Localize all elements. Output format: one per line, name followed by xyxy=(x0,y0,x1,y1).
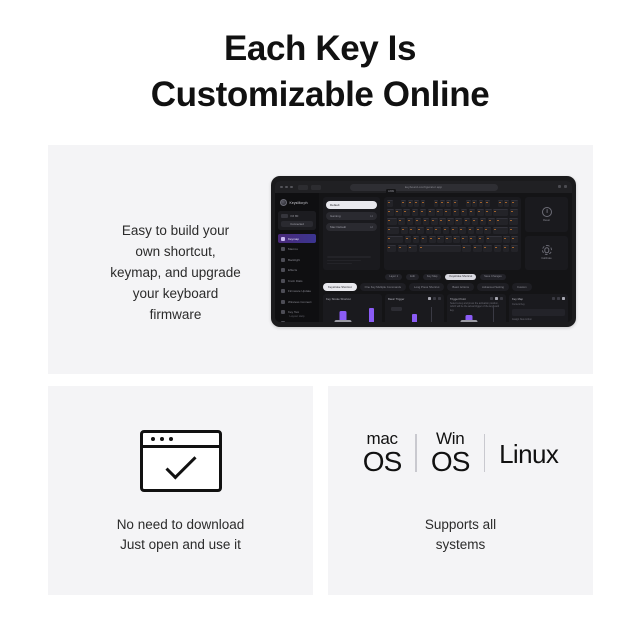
sidebar-item-wireless-connect[interactable]: Wireless Connect xyxy=(278,297,316,306)
sidebar-item-keymap[interactable]: Keymap xyxy=(278,234,316,243)
current-key-field[interactable] xyxy=(512,309,565,316)
layer-label: Default xyxy=(330,203,340,207)
panel-trigger-point: Trigger Point Select a key and press the… xyxy=(447,294,506,323)
sidebar-item-user-feedback[interactable]: User Feedback xyxy=(278,318,316,322)
os-linux: Linux xyxy=(499,440,558,467)
side-panel: Reset Calibrate xyxy=(525,197,568,270)
divider xyxy=(415,434,417,472)
panel-basic-trigger: Basic Trigger xyxy=(385,294,444,323)
trigger-axis xyxy=(431,307,432,323)
brand: KeysMorph xyxy=(280,199,316,206)
sidebar-item-label: User Feedback xyxy=(288,321,308,323)
panel-controls[interactable] xyxy=(428,297,441,300)
os-suffix: OS xyxy=(431,448,470,476)
device-name: K6 80 xyxy=(291,214,299,218)
sidebar-item-effects[interactable]: Effects xyxy=(278,266,316,275)
caption-line-2: Just open and use it xyxy=(48,535,313,555)
tab-basic-actions[interactable]: Basic Actions xyxy=(447,283,474,291)
switch-base xyxy=(461,320,478,323)
macros-icon xyxy=(281,247,285,251)
connected-device-box[interactable]: K6 80 Connected xyxy=(278,211,316,230)
app-screen: keyboard-configurator.app KeysMorph K6 8… xyxy=(275,181,572,322)
trigger-bar xyxy=(412,314,417,323)
feature-copy-line-2: own shortcut, xyxy=(88,242,263,263)
sidebar-item-label: Wireless Connect xyxy=(288,300,312,304)
feature-copy-line-5: firmware xyxy=(88,305,263,326)
keyboard-row-number xyxy=(387,209,518,216)
feature-card-all-systems: mac OS Win OS Linux Supports all systems xyxy=(328,386,593,595)
window-controls[interactable] xyxy=(280,186,293,189)
feature-copy-line-3: keymap, and upgrade xyxy=(88,263,263,284)
check-icon xyxy=(165,449,196,480)
feature-card-no-download: No need to download Just open and use it xyxy=(48,386,313,595)
sidebar-item-label: Keymap xyxy=(288,237,299,241)
caption-line-1: No need to download xyxy=(48,515,313,535)
layer-item-gaming[interactable]: Gaming L1 xyxy=(326,212,377,220)
os-suffix: Linux xyxy=(499,441,558,467)
browser-window-check-icon xyxy=(140,430,222,492)
os-support-row: mac OS Win OS Linux xyxy=(328,430,593,476)
feature-card-customize: Easy to build your own shortcut, keymap,… xyxy=(48,145,593,374)
keyboard-row-space xyxy=(387,245,518,252)
keyboard-row-function xyxy=(387,200,518,207)
promo-page: Each Key Is Customizable Online Easy to … xyxy=(0,0,640,640)
brand-name: KeysMorph xyxy=(290,201,308,205)
dot-icon xyxy=(169,437,173,441)
device-row: K6 80 xyxy=(281,214,313,218)
dot-icon xyxy=(151,437,155,441)
layer-meta: L2 xyxy=(370,226,373,229)
effects-icon xyxy=(281,268,285,272)
page-title: Each Key Is Customizable Online xyxy=(0,26,640,117)
divider xyxy=(484,434,486,472)
sidebar-item-firmware-update[interactable]: Firmware Update xyxy=(278,287,316,296)
sidebar-item-knob-dials[interactable]: Knob Dials xyxy=(278,276,316,285)
browser-tabs[interactable] xyxy=(298,185,321,190)
power-icon xyxy=(542,207,552,217)
browser-icon-titlebar xyxy=(143,433,219,448)
device-connect-button[interactable]: Connected xyxy=(281,221,313,227)
current-key-label: Current Key xyxy=(512,303,565,306)
card-caption: Supports all systems xyxy=(328,515,593,556)
caption-line-1: Supports all xyxy=(328,515,593,535)
sidebar-item-label: Knob Dials xyxy=(288,279,303,283)
address-bar-url: keyboard-configurator.app xyxy=(405,185,442,189)
keyboard-icon xyxy=(281,214,288,218)
panel-controls[interactable] xyxy=(552,297,565,300)
card-caption: No need to download Just open and use it xyxy=(48,515,313,556)
keyboard-row-shift xyxy=(387,236,518,243)
switch-stem xyxy=(340,311,347,320)
sidebar-item-label: Macros xyxy=(288,247,298,251)
trigger-chip[interactable] xyxy=(391,307,402,312)
mid-pill-edit[interactable]: Edit xyxy=(406,274,419,280)
gear-icon xyxy=(542,245,552,255)
os-windows: Win OS xyxy=(431,430,470,476)
assign-action-label: Assign New Action xyxy=(512,318,565,321)
panel-controls[interactable] xyxy=(490,297,503,300)
device-mockup: keyboard-configurator.app KeysMorph K6 8… xyxy=(271,176,576,327)
layer-label: Mac Default xyxy=(330,225,346,229)
layer-item-mac-default[interactable]: Mac Default L2 xyxy=(326,223,377,231)
backlight-icon xyxy=(281,258,285,262)
feature-copy: Easy to build your own shortcut, keymap,… xyxy=(88,221,263,326)
mid-toolbar: Layer 1 Edit Key Map Keystroke Shortcut … xyxy=(323,273,568,280)
layer-label: Gaming xyxy=(330,214,341,218)
layer-panel: Default Gaming L1 Mac Default L2 xyxy=(323,197,380,270)
switch-illustration xyxy=(461,315,477,323)
trigger-axis xyxy=(493,307,494,323)
panel-row: Key Stroke Shortcut Basic Trigger xyxy=(323,294,568,323)
reset-label: Reset xyxy=(543,219,550,222)
mid-pill-save-changes[interactable]: Save Changes xyxy=(480,274,506,280)
keyboard-row-home xyxy=(387,227,518,234)
feedback-icon xyxy=(281,321,285,323)
mid-pill-keystroke-shortcut[interactable]: Keystroke Shortcut xyxy=(445,274,476,280)
reset-control[interactable]: Reset xyxy=(525,197,568,232)
app-sidebar: KeysMorph K6 80 Connected Keymap xyxy=(275,193,319,322)
os-prefix: mac xyxy=(366,430,397,447)
feature-copy-line-1: Easy to build your xyxy=(88,221,263,242)
dot-icon xyxy=(160,437,164,441)
keyboard-layout-tag: ANSI xyxy=(386,189,396,194)
tab-keystroke-shortcut[interactable]: Keystroke Shortcut xyxy=(323,283,357,291)
app-main: Default Gaming L1 Mac Default L2 xyxy=(319,193,572,322)
keyboard-row-top xyxy=(387,218,518,225)
wireless-icon xyxy=(281,300,285,304)
travel-bar xyxy=(369,308,374,323)
headline-line-1: Each Key Is xyxy=(224,29,416,68)
keymap-icon xyxy=(281,237,285,241)
keyboard-panel[interactable]: ANSI xyxy=(384,197,521,270)
layer-meta: L1 xyxy=(370,215,373,218)
panel-title: Key Stroke Shortcut xyxy=(326,297,379,301)
layer-item-default[interactable]: Default xyxy=(326,201,377,209)
feature-copy-line-4: your keyboard xyxy=(88,284,263,305)
brand-logo-icon xyxy=(280,199,287,206)
sidebar-item-label: Backlight xyxy=(288,258,300,262)
mid-pill-layer[interactable]: Layer 1 xyxy=(385,274,402,280)
tab-one-key-multiple-commands[interactable]: One Key Multiple Commands xyxy=(360,283,406,291)
sidebar-item-macros[interactable]: Macros xyxy=(278,245,316,254)
address-bar[interactable]: keyboard-configurator.app xyxy=(350,184,498,191)
os-suffix: OS xyxy=(363,448,402,476)
switch-base xyxy=(335,320,352,323)
sidebar-footer-label: Layout Help xyxy=(278,314,316,318)
tab-advanced-setting[interactable]: Advanced Setting xyxy=(477,283,509,291)
switch-illustration xyxy=(333,311,353,323)
layer-note xyxy=(327,256,376,266)
calibrate-control[interactable]: Calibrate xyxy=(525,236,568,271)
sidebar-item-label: Effects xyxy=(288,268,297,272)
browser-titlebar: keyboard-configurator.app xyxy=(275,181,572,193)
calibrate-label: Calibrate xyxy=(541,257,551,260)
os-prefix: Win xyxy=(436,430,464,447)
tab-long-press-shortcut[interactable]: Long Press Shortcut xyxy=(409,283,444,291)
caption-line-2: systems xyxy=(328,535,593,555)
top-row: Default Gaming L1 Mac Default L2 xyxy=(323,197,568,270)
tab-strip: Keystroke Shortcut One Key Multiple Comm… xyxy=(323,283,568,291)
os-macos: mac OS xyxy=(363,430,402,476)
sidebar-item-backlight[interactable]: Backlight xyxy=(278,255,316,264)
headline-line-2: Customizable Online xyxy=(0,72,640,118)
mid-pill-keymap[interactable]: Key Map xyxy=(423,274,442,280)
tab-custom[interactable]: Custom xyxy=(512,283,532,291)
knob-icon xyxy=(281,279,285,283)
panel-subtitle: Select a key and press the activation po… xyxy=(450,302,503,312)
firmware-icon xyxy=(281,289,285,293)
panel-key-map: Key Map Current Key Assign New Action Sa… xyxy=(509,294,568,323)
titlebar-actions[interactable] xyxy=(558,185,567,188)
sidebar-footer[interactable]: Layout Help xyxy=(278,314,316,318)
panel-keystroke-shortcut: Key Stroke Shortcut xyxy=(323,294,382,323)
sidebar-item-label: Firmware Update xyxy=(288,289,311,293)
